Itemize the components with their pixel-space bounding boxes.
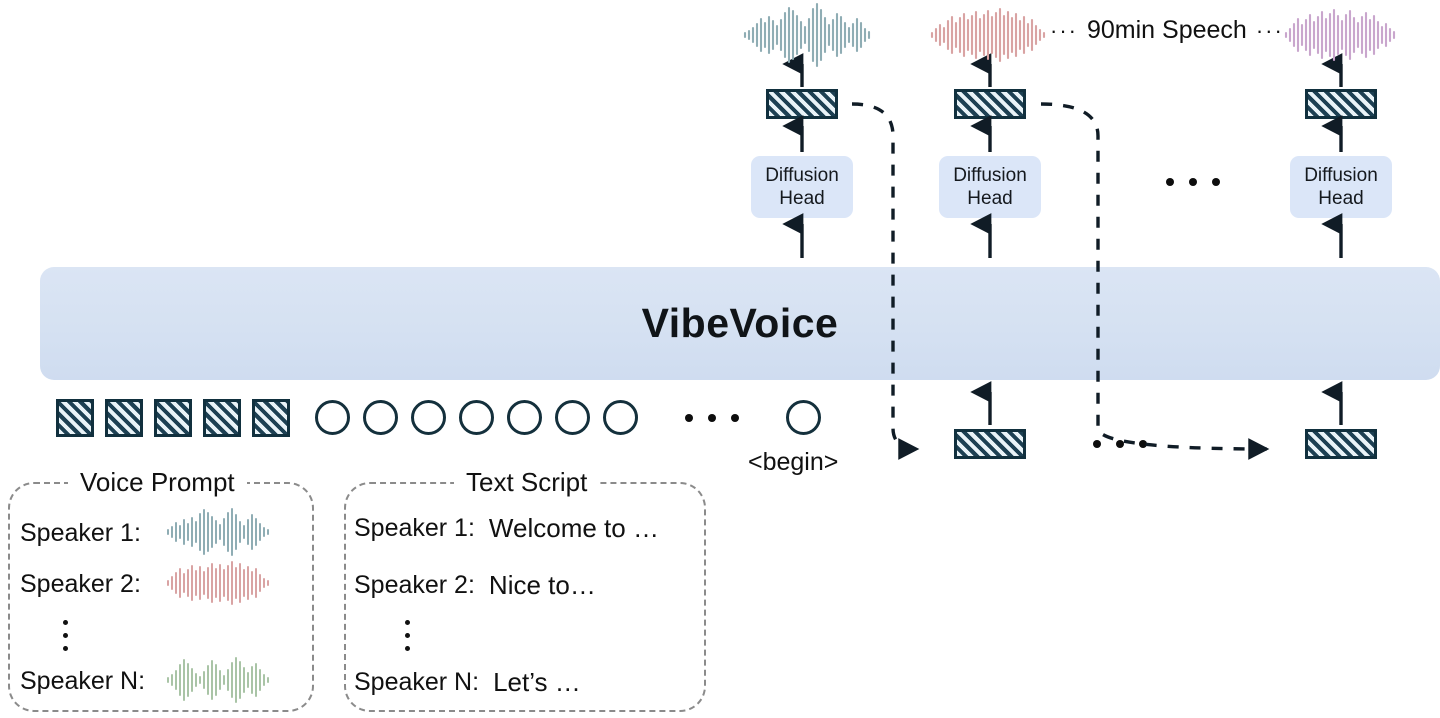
diffusion-head-line1: Diffusion [953, 164, 1027, 187]
ellipsis-dot [1139, 440, 1147, 448]
text-token-circle [459, 400, 494, 435]
text-script-line-text: Nice to… [489, 570, 596, 601]
output-latent-box-1 [766, 89, 838, 119]
output-waveform-1 [745, 4, 869, 66]
diffusion-head-line2: Head [967, 187, 1012, 210]
ellipsis-dot [405, 620, 410, 625]
ellipsis-dot [1116, 440, 1124, 448]
caption-trailing-ellipsis: ··· [1256, 18, 1284, 44]
vibevoice-model-banner[interactable]: VibeVoice [40, 267, 1440, 380]
voice-prompt-row-2: Speaker 2: [20, 570, 141, 599]
begin-token-circle [786, 400, 821, 435]
voice-prompt-speaker-name: Speaker N: [20, 667, 145, 696]
diffusion-head-line1: Diffusion [1304, 164, 1378, 187]
diffusion-head-line1: Diffusion [765, 164, 839, 187]
vibevoice-title: VibeVoice [642, 300, 839, 347]
feedback-latent-box-2 [1305, 429, 1377, 459]
voice-prompt-speaker-name: Speaker 1: [20, 519, 141, 548]
caption-leading-ellipsis: ··· [1050, 18, 1078, 44]
diffusion-head-line2: Head [1318, 187, 1363, 210]
voice-prompt-row-3: Speaker N: [20, 667, 145, 696]
text-token-circle [507, 400, 542, 435]
text-script-speaker-name: Speaker N: [354, 668, 479, 697]
text-token-circle [315, 400, 350, 435]
head-to-latent-arrows [802, 126, 1341, 152]
model-to-head-arrows [802, 224, 1341, 258]
output-latent-box-3 [1305, 89, 1377, 119]
voice-prompt-row-1: Speaker 1: [20, 519, 141, 548]
caption-text: 90min Speech [1087, 16, 1247, 45]
ellipsis-dot [63, 633, 68, 638]
ellipsis-dot [731, 414, 739, 422]
input-token-ellipsis [685, 414, 739, 422]
voice-prompt-latent-token [252, 399, 290, 437]
ellipsis-dot [1189, 178, 1197, 186]
output-waveform-2 [932, 9, 1044, 61]
ellipsis-dot [1212, 178, 1220, 186]
ellipsis-dot [1166, 178, 1174, 186]
text-script-title: Text Script [454, 467, 599, 498]
text-script-line-text: Let’s … [493, 667, 581, 698]
ellipsis-dot [63, 646, 68, 651]
voice-prompt-latent-token [154, 399, 192, 437]
voice-prompt-speaker-name: Speaker 2: [20, 570, 141, 599]
output-speech-caption: ··· 90min Speech ··· [1050, 16, 1284, 45]
text-token-circle [363, 400, 398, 435]
voice-prompt-vertical-ellipsis [63, 620, 68, 651]
ellipsis-dot [708, 414, 716, 422]
output-latent-box-2 [954, 89, 1026, 119]
diffusion-head-3[interactable]: Diffusion Head [1290, 156, 1392, 218]
diagram-canvas: ··· 90min Speech ··· Diffusion Head Diff… [0, 0, 1440, 718]
begin-token-label: <begin> [748, 448, 838, 477]
text-script-row-3: Speaker N: Let’s … [354, 667, 581, 698]
ellipsis-dot [63, 620, 68, 625]
voice-prompt-latent-token [203, 399, 241, 437]
text-script-row-2: Speaker 2: Nice to… [354, 570, 596, 601]
ellipsis-dot [685, 414, 693, 422]
feedback-latent-box-1 [954, 429, 1026, 459]
diffusion-head-2[interactable]: Diffusion Head [939, 156, 1041, 218]
voice-prompt-latent-token [105, 399, 143, 437]
text-script-speaker-name: Speaker 2: [354, 571, 475, 600]
diffusion-head-ellipsis [1166, 178, 1220, 186]
voice-prompt-latent-token [56, 399, 94, 437]
diffusion-head-line2: Head [779, 187, 824, 210]
text-token-circle [603, 400, 638, 435]
feedback-to-model-arrows [990, 392, 1341, 425]
voice-prompt-title: Voice Prompt [68, 467, 247, 498]
feedback-latent-ellipsis [1093, 440, 1147, 448]
text-script-speaker-name: Speaker 1: [354, 514, 475, 543]
text-script-row-1: Speaker 1: Welcome to … [354, 513, 659, 544]
text-token-circle [555, 400, 590, 435]
text-token-circle [411, 400, 446, 435]
diffusion-head-1[interactable]: Diffusion Head [751, 156, 853, 218]
latent-to-wave-arrows [802, 64, 1341, 87]
ellipsis-dot [1093, 440, 1101, 448]
ellipsis-dot [405, 633, 410, 638]
text-script-line-text: Welcome to … [489, 513, 659, 544]
text-script-vertical-ellipsis [405, 620, 410, 651]
ellipsis-dot [405, 646, 410, 651]
output-waveform-3 [1286, 10, 1394, 60]
